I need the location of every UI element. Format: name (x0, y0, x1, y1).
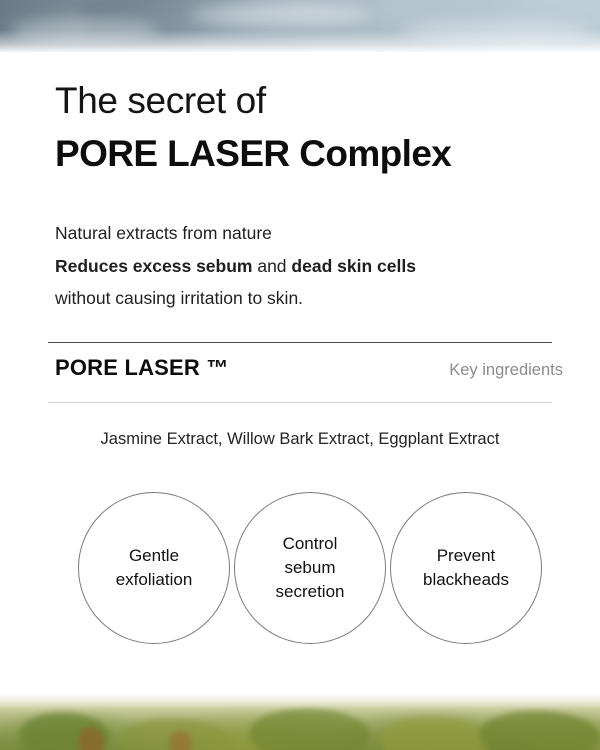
benefits-venn-diagram: Gentle exfoliation Control sebum secreti… (0, 482, 600, 662)
page-title: The secret of PORE LASER Complex (55, 79, 555, 175)
key-ingredients-label: Key ingredients (449, 361, 563, 380)
brand-row: PORE LASER ™ Key ingredients (55, 355, 563, 381)
top-banner-image (0, 0, 600, 52)
foliage-shape (250, 709, 370, 750)
product-info-card: The secret of PORE LASER Complex Natural… (0, 0, 600, 750)
description-conjunction: and (252, 256, 291, 276)
benefit-circle-2 (234, 492, 386, 644)
description-bold-dead-skin: dead skin cells (291, 256, 416, 276)
description-bold-sebum: Reduces excess sebum (55, 256, 252, 276)
brand-name: PORE LASER ™ (55, 355, 229, 381)
headline-line-1: The secret of (55, 79, 555, 123)
description-line-1: Natural extracts from nature (55, 217, 555, 250)
description-line-3: without causing irritation to skin. (55, 282, 555, 315)
benefit-circle-3 (390, 492, 542, 644)
description-line-2: Reduces excess sebum and dead skin cells (55, 250, 555, 283)
ingredients-list: Jasmine Extract, Willow Bark Extract, Eg… (0, 430, 600, 449)
bottom-banner-image (0, 693, 600, 750)
haze-gradient-overlay (0, 30, 600, 52)
foliage-shape (480, 711, 600, 750)
description-paragraph: Natural extracts from nature Reduces exc… (55, 217, 555, 315)
benefit-circle-1 (78, 492, 230, 644)
banner-fade-overlay (0, 693, 600, 709)
content-area: The secret of PORE LASER Complex Natural… (0, 52, 600, 693)
foliage-shape (380, 717, 490, 750)
headline-line-2: PORE LASER Complex (55, 132, 555, 176)
divider-top (48, 342, 552, 343)
cloud-wisp-shape (190, 4, 370, 26)
divider-bottom (48, 402, 552, 403)
